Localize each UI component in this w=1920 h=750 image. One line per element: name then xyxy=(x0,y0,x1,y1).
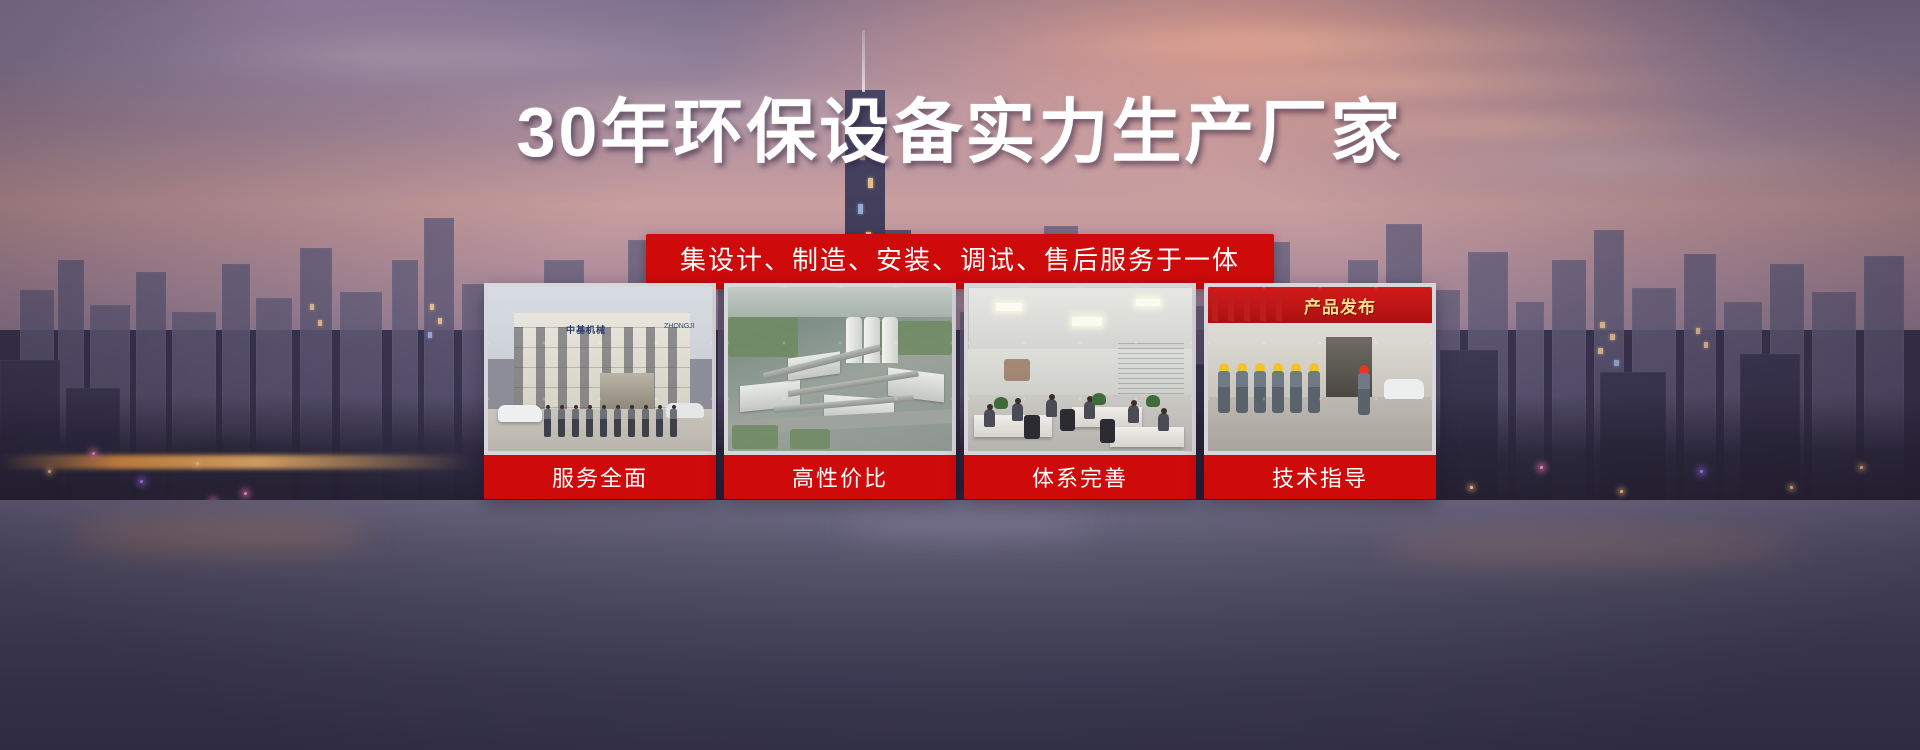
building-sign-sub: ZHONGJI xyxy=(664,323,695,330)
card-label-guidance: 技术指导 xyxy=(1204,455,1436,499)
workshop-banner: 产品发布 xyxy=(1208,287,1432,323)
card-photo-office-interior xyxy=(968,287,1192,451)
feature-card-row: 中基机械 ZHONGJI 服务全面 xyxy=(484,283,1436,499)
feature-card-value[interactable]: 高性价比 xyxy=(724,283,956,499)
wall-logo xyxy=(1004,359,1030,381)
card-photo-plant-aerial xyxy=(728,287,952,451)
feature-card-service[interactable]: 中基机械 ZHONGJI 服务全面 xyxy=(484,283,716,499)
card-label-value: 高性价比 xyxy=(724,455,956,499)
illuminated-bridge xyxy=(0,455,470,469)
card-photo-office-building: 中基机械 ZHONGJI xyxy=(488,287,712,451)
card-label-system: 体系完善 xyxy=(964,455,1196,499)
subtitle-banner: 集设计、制造、安装、调试、售后服务于一体 xyxy=(646,234,1274,289)
feature-card-system[interactable]: 体系完善 xyxy=(964,283,1196,499)
card-label-service: 服务全面 xyxy=(484,455,716,499)
workshop-banner-text: 产品发布 xyxy=(1304,293,1376,318)
card-photo-workshop: 产品发布 xyxy=(1208,287,1432,451)
feature-card-guidance[interactable]: 产品发布 技术指导 xyxy=(1204,283,1436,499)
page-title: 30年环保设备实力生产厂家 xyxy=(0,97,1920,167)
building-sign-text: 中基机械 xyxy=(566,323,606,336)
subtitle-text: 集设计、制造、安装、调试、售后服务于一体 xyxy=(680,244,1240,277)
hero-banner: 30年环保设备实力生产厂家 集设计、制造、安装、调试、售后服务于一体 中基机械 … xyxy=(0,0,1920,750)
